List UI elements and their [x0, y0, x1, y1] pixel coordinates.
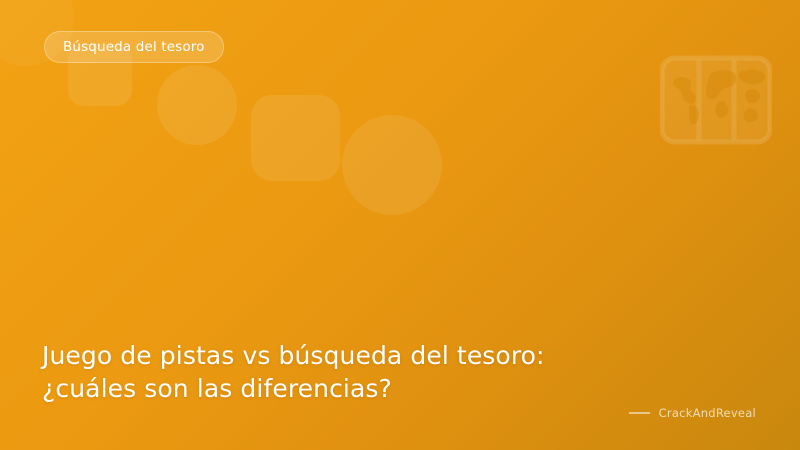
brand-name: CrackAndReveal [659, 406, 756, 420]
brand-mark: CrackAndReveal [629, 406, 756, 420]
circle-small-decoration [157, 65, 237, 145]
category-badge[interactable]: Búsqueda del tesoro [44, 31, 224, 63]
promo-card: Búsqueda del tesoro Juego de pistas vs b… [0, 0, 800, 450]
brand-rule-divider [629, 412, 650, 414]
circle-large-decoration [342, 115, 442, 215]
category-badge-label: Búsqueda del tesoro [63, 39, 205, 55]
rounded-square-large-decoration [251, 95, 340, 181]
page-title: Juego de pistas vs búsqueda del tesoro: … [42, 340, 642, 405]
folded-map-icon [660, 50, 772, 148]
